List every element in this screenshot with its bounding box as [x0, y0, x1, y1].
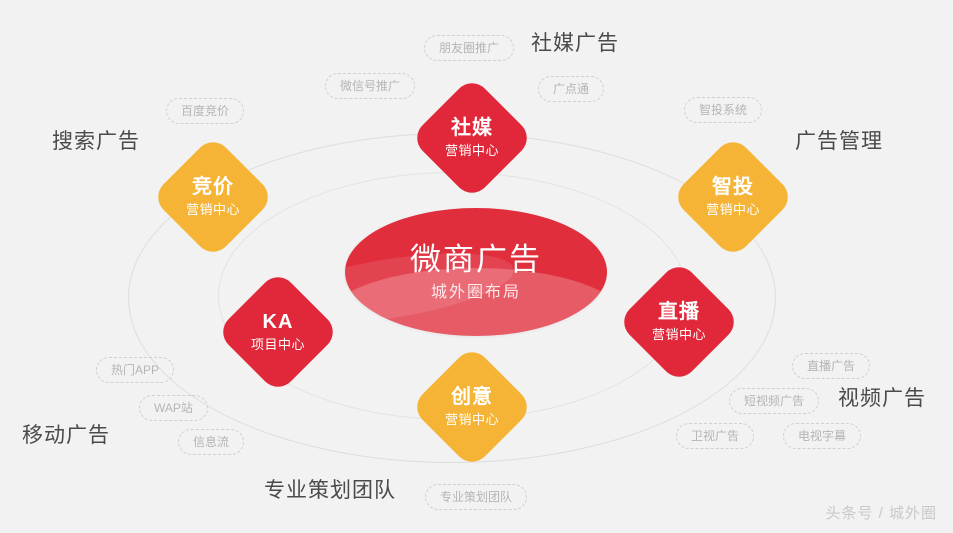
tag-tv-subtitles[interactable]: 电视字幕: [783, 423, 861, 449]
heading-social-ads: 社媒广告: [531, 33, 619, 54]
heading-mobile-ads: 移动广告: [22, 425, 110, 446]
heading-search-ads: 搜索广告: [52, 131, 140, 152]
node-zhitou[interactable]: 智投 营销中心: [671, 135, 795, 259]
node-jingjia-subtitle: 营销中心: [186, 203, 240, 218]
core-ellipse: 微商广告 城外圈布局: [345, 208, 607, 336]
node-chuangyi-subtitle: 营销中心: [445, 413, 499, 428]
tag-satellite-tv-ads[interactable]: 卫视广告: [676, 423, 754, 449]
core-subtitle: 城外圈布局: [431, 285, 521, 301]
core-title: 微商广告: [410, 244, 542, 275]
infographic-canvas: 微商广告 城外圈布局 社媒 营销中心 竞价 营销中心 智投 营销中心 KA 项目…: [0, 0, 953, 533]
node-zhitou-label: 智投 营销中心: [689, 153, 777, 241]
tag-popular-app[interactable]: 热门APP: [96, 357, 174, 383]
node-chuangyi-label: 创意 营销中心: [428, 363, 516, 451]
node-chuangyi-title: 创意: [451, 386, 493, 409]
node-ka[interactable]: KA 项目中心: [216, 270, 340, 394]
node-zhibo-subtitle: 营销中心: [652, 328, 706, 343]
tag-moments-promo[interactable]: 朋友圈推广: [424, 35, 514, 61]
node-jingjia[interactable]: 竞价 营销中心: [151, 135, 275, 259]
node-chuangyi[interactable]: 创意 营销中心: [410, 345, 534, 469]
tag-wap-site[interactable]: WAP站: [139, 395, 208, 421]
tag-baidu-bidding[interactable]: 百度竞价: [166, 98, 244, 124]
node-shemei[interactable]: 社媒 营销中心: [410, 76, 534, 200]
node-ka-subtitle: 项目中心: [251, 338, 305, 353]
watermark: 头条号 / 城外圈: [825, 502, 937, 523]
node-shemei-label: 社媒 营销中心: [428, 94, 516, 182]
tag-news-feed[interactable]: 信息流: [178, 429, 244, 455]
tag-guangdiantong[interactable]: 广点通: [538, 76, 604, 102]
node-jingjia-label: 竞价 营销中心: [169, 153, 257, 241]
tag-short-video-ads[interactable]: 短视频广告: [729, 388, 819, 414]
node-jingjia-title: 竞价: [192, 176, 234, 199]
heading-planning-team: 专业策划团队: [264, 480, 396, 501]
node-zhibo-label: 直播 营销中心: [635, 278, 723, 366]
node-shemei-title: 社媒: [451, 117, 493, 140]
heading-video-ads: 视频广告: [838, 388, 926, 409]
node-zhitou-subtitle: 营销中心: [706, 203, 760, 218]
node-shemei-subtitle: 营销中心: [445, 144, 499, 159]
tag-professional-planning-team[interactable]: 专业策划团队: [425, 484, 527, 510]
node-zhibo[interactable]: 直播 营销中心: [617, 260, 741, 384]
node-zhitou-title: 智投: [712, 176, 754, 199]
tag-wechat-account-promo[interactable]: 微信号推广: [325, 73, 415, 99]
node-zhibo-title: 直播: [658, 301, 700, 324]
node-ka-label: KA 项目中心: [234, 288, 322, 376]
tag-smart-bidding-system[interactable]: 智投系统: [684, 97, 762, 123]
tag-live-ads[interactable]: 直播广告: [792, 353, 870, 379]
node-ka-title: KA: [263, 311, 294, 334]
heading-ad-management: 广告管理: [795, 131, 883, 152]
